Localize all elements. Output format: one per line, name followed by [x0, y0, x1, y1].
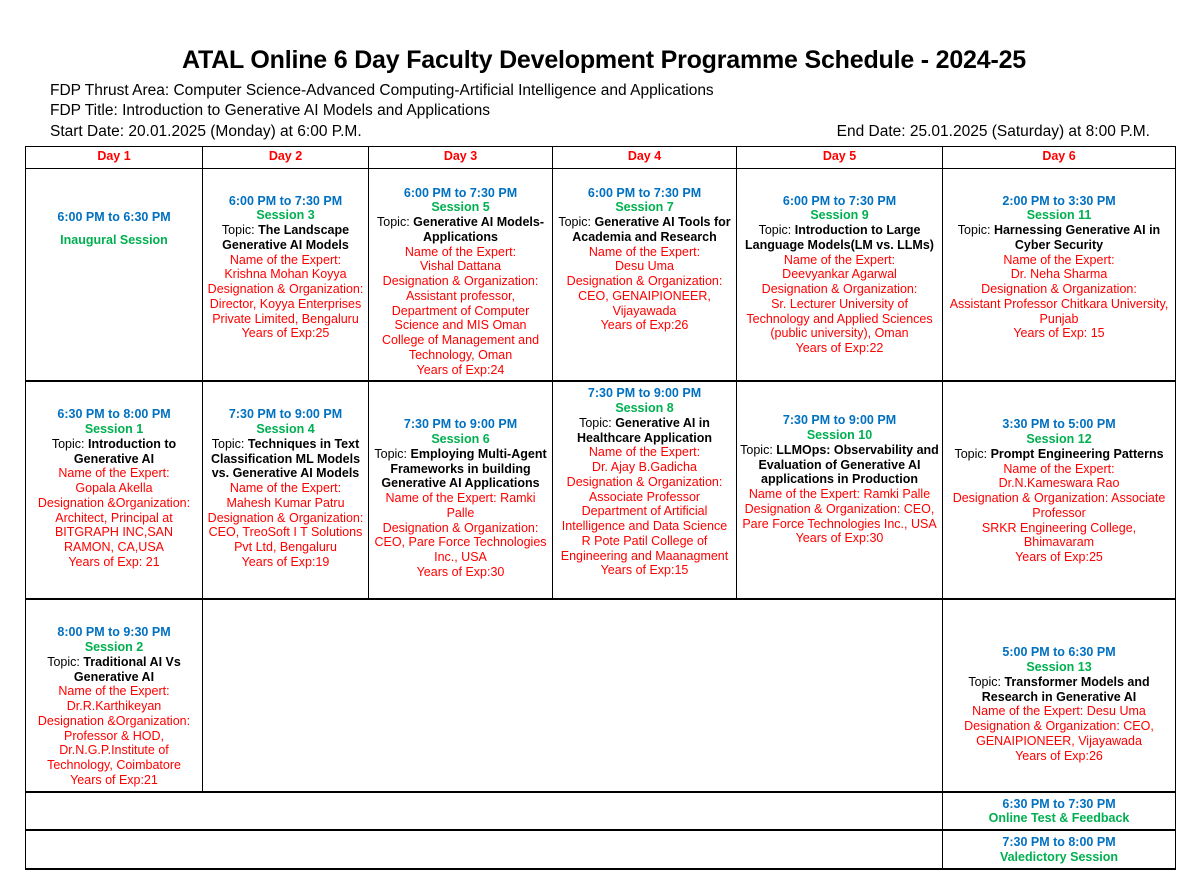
column-header-day6: Day 6: [943, 146, 1176, 168]
topic-text: Introduction to Generative AI: [74, 437, 176, 466]
years-of-exp: Years of Exp:30: [372, 565, 549, 580]
designation-label: Designation &Organization:: [29, 496, 199, 511]
expert-name: Mahesh Kumar Patru: [206, 496, 365, 511]
session-number: Session 5: [372, 200, 549, 215]
session-topic: Topic: Harnessing Generative AI in Cyber…: [946, 223, 1172, 253]
expert-name: Dr.R.Karthikeyan: [29, 699, 199, 714]
session-topic: Topic: Prompt Engineering Patterns: [946, 447, 1172, 462]
session-cell-10: 7:30 PM to 9:00 PM Session 10 Topic: LLM…: [737, 381, 943, 599]
session-topic: Topic: Employing Multi-Agent Frameworks …: [372, 447, 549, 491]
session-number: Session 8: [556, 401, 733, 416]
session-topic: Topic: Traditional AI Vs Generative AI: [29, 655, 199, 685]
session-number: Session 7: [556, 200, 733, 215]
session-number: Session 3: [206, 208, 365, 223]
topic-text: Generative AI Tools for Academia and Res…: [572, 215, 730, 244]
session-topic: Topic: Generative AI Models-Applications: [372, 215, 549, 245]
topic-text: Traditional AI Vs Generative AI: [74, 655, 181, 684]
designation-text: Assistant Professor Chitkara University,…: [946, 297, 1172, 327]
session-cell-11: 2:00 PM to 3:30 PM Session 11 Topic: Har…: [943, 168, 1176, 381]
column-header-day5: Day 5: [737, 146, 943, 168]
date-line: Start Date: 20.01.2025 (Monday) at 6:00 …: [50, 122, 1158, 143]
start-date: Start Date: 20.01.2025 (Monday) at 6:00 …: [50, 122, 362, 143]
topic-prefix: Topic:: [222, 223, 258, 237]
session-cell-13: 5:00 PM to 6:30 PM Session 13 Topic: Tra…: [943, 599, 1176, 791]
topic-text: Transformer Models and Research in Gener…: [982, 675, 1150, 704]
designation-label: Designation & Organization:: [556, 274, 733, 289]
designation-label: Designation &Organization:: [29, 714, 199, 729]
years-of-exp: Years of Exp:22: [740, 341, 939, 356]
session-topic: Topic: Introduction to Large Language Mo…: [740, 223, 939, 253]
day-label: Day 1: [29, 150, 199, 164]
expert-label: Name of the Expert:: [29, 466, 199, 481]
session-time: 6:30 PM to 7:30 PM: [946, 797, 1172, 812]
table-row: 8:00 PM to 9:30 PM Session 2 Topic: Trad…: [26, 599, 1176, 791]
designation-label: Designation & Organization:: [206, 282, 365, 297]
designation-text: Sr. Lecturer University of Technology an…: [740, 297, 939, 341]
designation-label: Designation & Organization:: [740, 282, 939, 297]
session-cell-6: 7:30 PM to 9:00 PM Session 6 Topic: Empl…: [369, 381, 553, 599]
session-cell-2: 8:00 PM to 9:30 PM Session 2 Topic: Trad…: [26, 599, 203, 791]
session-number: Session 9: [740, 208, 939, 223]
session-number: Session 10: [740, 428, 939, 443]
designation-text: CEO, Pare Force Technologies Inc., USA: [372, 535, 549, 565]
expert-name: Vishal Dattana: [372, 259, 549, 274]
day-label: Day 3: [372, 150, 549, 164]
session-cell-8: 7:30 PM to 9:00 PM Session 8 Topic: Gene…: [553, 381, 737, 599]
session-time: 7:30 PM to 8:00 PM: [946, 835, 1172, 850]
table-row: 7:30 PM to 8:00 PM Valedictory Session: [26, 830, 1176, 869]
fdp-title-line: FDP Title: Introduction to Generative AI…: [50, 101, 1158, 122]
session-cell-inaugural: 6:00 PM to 6:30 PM Inaugural Session: [26, 168, 203, 381]
day-label: Day 5: [740, 150, 939, 164]
designation-label: Designation & Organization:: [206, 511, 365, 526]
session-time: 6:00 PM to 6:30 PM: [29, 210, 199, 225]
column-header-day3: Day 3: [369, 146, 553, 168]
designation-text: Architect, Principal at BITGRAPH INC,SAN…: [29, 511, 199, 555]
expert-name: Dr. Ajay B.Gadicha: [556, 460, 733, 475]
expert-label: Name of the Expert:: [946, 253, 1172, 268]
expert-label: Name of the Expert:: [29, 684, 199, 699]
designation-label: Designation & Organization:: [372, 274, 549, 289]
expert-label: Name of the Expert:: [206, 253, 365, 268]
session-topic: Topic: Introduction to Generative AI: [29, 437, 199, 467]
designation-label: Designation & Organization: Associate Pr…: [946, 491, 1172, 521]
designation-text: Associate Professor Department of Artifi…: [556, 490, 733, 564]
schedule-table: Day 1 Day 2 Day 3 Day 4 Day 5 Day 6 6:00…: [25, 146, 1176, 870]
session-time: 5:00 PM to 6:30 PM: [946, 645, 1172, 660]
topic-prefix: Topic:: [377, 215, 413, 229]
years-of-exp: Years of Exp: 15: [946, 326, 1172, 341]
expert-label: Name of the Expert:: [556, 245, 733, 260]
topic-prefix: Topic:: [740, 443, 776, 457]
designation-text: SRKR Engineering College, Bhimavaram: [946, 521, 1172, 551]
session-number: Session 13: [946, 660, 1172, 675]
thrust-area-line: FDP Thrust Area: Computer Science-Advanc…: [50, 81, 1158, 102]
schedule-page: ATAL Online 6 Day Faculty Development Pr…: [0, 0, 1200, 849]
years-of-exp: Years of Exp:30: [740, 531, 939, 546]
table-header-row: Day 1 Day 2 Day 3 Day 4 Day 5 Day 6: [26, 146, 1176, 168]
designation-label: Designation & Organization: CEO,: [946, 719, 1172, 734]
session-time: 3:30 PM to 5:00 PM: [946, 417, 1172, 432]
years-of-exp: Years of Exp:21: [29, 773, 199, 788]
designation-text: Director, Koyya Enterprises Private Limi…: [206, 297, 365, 327]
column-header-day2: Day 2: [203, 146, 369, 168]
table-row: 6:30 PM to 7:30 PM Online Test & Feedbac…: [26, 792, 1176, 831]
session-number: Session 4: [206, 422, 365, 437]
expert-label: Name of the Expert:: [556, 445, 733, 460]
session-time: 7:30 PM to 9:00 PM: [740, 413, 939, 428]
table-row: 6:00 PM to 6:30 PM Inaugural Session 6:0…: [26, 168, 1176, 381]
session-topic: Topic: The Landscape Generative AI Model…: [206, 223, 365, 253]
session-time: 7:30 PM to 9:00 PM: [372, 417, 549, 432]
column-header-day4: Day 4: [553, 146, 737, 168]
session-number: Session 12: [946, 432, 1172, 447]
session-cell-1: 6:30 PM to 8:00 PM Session 1 Topic: Intr…: [26, 381, 203, 599]
designation-label: Designation & Organization:: [946, 282, 1172, 297]
years-of-exp: Years of Exp:15: [556, 563, 733, 578]
valedictory-cell: 7:30 PM to 8:00 PM Valedictory Session: [943, 830, 1176, 869]
document-header: ATAL Online 6 Day Faculty Development Pr…: [0, 0, 1200, 143]
topic-prefix: Topic:: [579, 416, 615, 430]
table-row: 6:30 PM to 8:00 PM Session 1 Topic: Intr…: [26, 381, 1176, 599]
expert-label: Name of the Expert:: [206, 481, 365, 496]
expert-name: Desu Uma: [556, 259, 733, 274]
expert-label: Name of the Expert: Desu Uma: [946, 704, 1172, 719]
empty-merged-cell: [26, 830, 943, 869]
session-name: Valedictory Session: [946, 850, 1172, 865]
session-cell-7: 6:00 PM to 7:30 PM Session 7 Topic: Gene…: [553, 168, 737, 381]
years-of-exp: Years of Exp:25: [206, 326, 365, 341]
session-time: 6:00 PM to 7:30 PM: [206, 194, 365, 209]
session-time: 7:30 PM to 9:00 PM: [556, 386, 733, 401]
designation-label: Designation & Organization: CEO,: [740, 502, 939, 517]
session-time: 6:30 PM to 8:00 PM: [29, 407, 199, 422]
years-of-exp: Years of Exp:26: [556, 318, 733, 333]
years-of-exp: Years of Exp: 21: [29, 555, 199, 570]
session-time: 6:00 PM to 7:30 PM: [740, 194, 939, 209]
topic-prefix: Topic:: [47, 655, 83, 669]
session-time: 8:00 PM to 9:30 PM: [29, 625, 199, 640]
expert-label: Name of the Expert:: [740, 253, 939, 268]
session-number: Session 2: [29, 640, 199, 655]
topic-prefix: Topic:: [374, 447, 410, 461]
years-of-exp: Years of Exp:24: [372, 363, 549, 378]
empty-merged-cell: [26, 792, 943, 831]
topic-text: Prompt Engineering Patterns: [991, 447, 1164, 461]
topic-prefix: Topic:: [968, 675, 1004, 689]
page-title: ATAL Online 6 Day Faculty Development Pr…: [50, 46, 1158, 75]
designation-text: Professor & HOD, Dr.N.G.P.Institute of T…: [29, 729, 199, 773]
expert-name: Deevyankar Agarwal: [740, 267, 939, 282]
designation-text: Assistant professor, Department of Compu…: [372, 289, 549, 363]
expert-label: Name of the Expert:: [946, 462, 1172, 477]
session-cell-9: 6:00 PM to 7:30 PM Session 9 Topic: Intr…: [737, 168, 943, 381]
designation-text: Pare Force Technologies Inc., USA: [740, 517, 939, 532]
topic-prefix: Topic:: [958, 223, 994, 237]
topic-prefix: Topic:: [212, 437, 248, 451]
expert-label: Name of the Expert: Ramki Palle: [372, 491, 549, 521]
topic-text: LLMOps: Observability and Evaluation of …: [758, 443, 938, 487]
designation-text: GENAIPIONEER, Vijayawada: [946, 734, 1172, 749]
schedule-table-wrapper: Day 1 Day 2 Day 3 Day 4 Day 5 Day 6 6:00…: [0, 143, 1200, 870]
session-topic: Topic: LLMOps: Observability and Evaluat…: [740, 443, 939, 487]
expert-name: Dr.N.Kameswara Rao: [946, 476, 1172, 491]
years-of-exp: Years of Exp:26: [946, 749, 1172, 764]
topic-text: Harnessing Generative AI in Cyber Securi…: [994, 223, 1160, 252]
topic-prefix: Topic:: [954, 447, 990, 461]
designation-label: Designation & Organization:: [556, 475, 733, 490]
session-time: 6:00 PM to 7:30 PM: [556, 186, 733, 201]
session-name: Online Test & Feedback: [946, 811, 1172, 826]
session-topic: Topic: Generative AI in Healthcare Appli…: [556, 416, 733, 446]
designation-label: Designation & Organization:: [372, 521, 549, 536]
session-number: Session 6: [372, 432, 549, 447]
empty-merged-cell: [203, 599, 943, 791]
topic-prefix: Topic:: [759, 223, 795, 237]
session-cell-3: 6:00 PM to 7:30 PM Session 3 Topic: The …: [203, 168, 369, 381]
years-of-exp: Years of Exp:19: [206, 555, 365, 570]
session-time: 6:00 PM to 7:30 PM: [372, 186, 549, 201]
end-date: End Date: 25.01.2025 (Saturday) at 8:00 …: [837, 122, 1150, 143]
expert-label: Name of the Expert:: [372, 245, 549, 260]
session-number: Session 1: [29, 422, 199, 437]
session-topic: Topic: Transformer Models and Research i…: [946, 675, 1172, 705]
topic-text: Generative AI Models-Applications: [413, 215, 544, 244]
session-topic: Topic: Generative AI Tools for Academia …: [556, 215, 733, 245]
session-time: 7:30 PM to 9:00 PM: [206, 407, 365, 422]
day-label: Day 4: [556, 150, 733, 164]
expert-label: Name of the Expert: Ramki Palle: [740, 487, 939, 502]
session-number: Session 11: [946, 208, 1172, 223]
session-cell-5: 6:00 PM to 7:30 PM Session 5 Topic: Gene…: [369, 168, 553, 381]
session-name: Inaugural Session: [29, 233, 199, 248]
session-time: 2:00 PM to 3:30 PM: [946, 194, 1172, 209]
expert-name: Gopala Akella: [29, 481, 199, 496]
day-label: Day 6: [946, 150, 1172, 164]
designation-text: CEO, TreoSoft I T Solutions Pvt Ltd, Ben…: [206, 525, 365, 555]
designation-text: CEO, GENAIPIONEER, Vijayawada: [556, 289, 733, 319]
expert-name: Krishna Mohan Koyya: [206, 267, 365, 282]
column-header-day1: Day 1: [26, 146, 203, 168]
online-test-cell: 6:30 PM to 7:30 PM Online Test & Feedbac…: [943, 792, 1176, 831]
topic-prefix: Topic:: [52, 437, 88, 451]
expert-name: Dr. Neha Sharma: [946, 267, 1172, 282]
session-topic: Topic: Techniques in Text Classification…: [206, 437, 365, 481]
topic-prefix: Topic:: [558, 215, 594, 229]
session-cell-4: 7:30 PM to 9:00 PM Session 4 Topic: Tech…: [203, 381, 369, 599]
years-of-exp: Years of Exp:25: [946, 550, 1172, 565]
session-cell-12: 3:30 PM to 5:00 PM Session 12 Topic: Pro…: [943, 381, 1176, 599]
day-label: Day 2: [206, 150, 365, 164]
